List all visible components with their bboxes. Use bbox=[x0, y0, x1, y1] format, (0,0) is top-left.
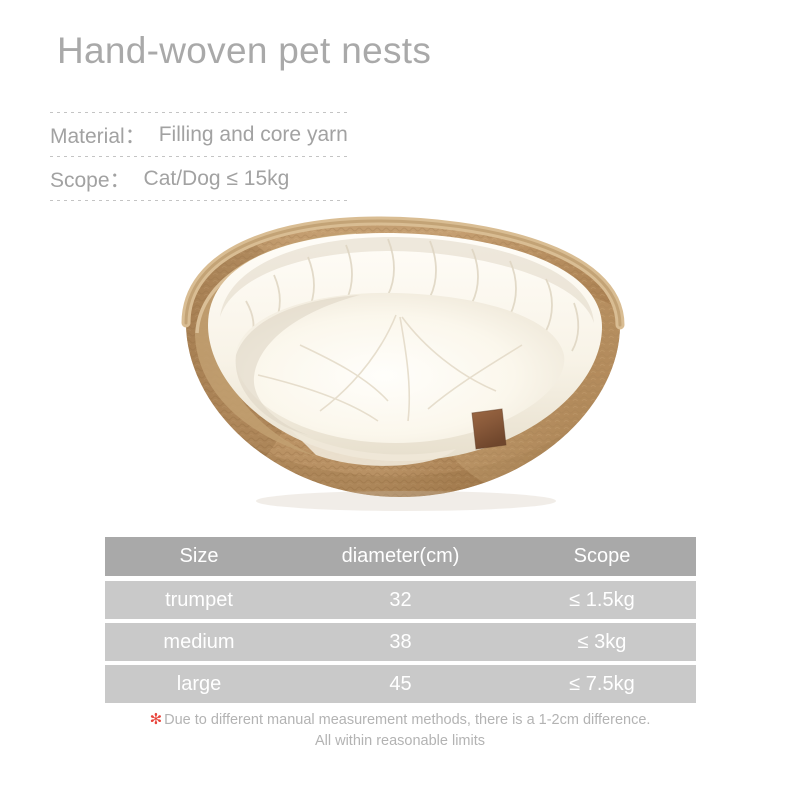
table-header-diameter: diameter(cm) bbox=[293, 545, 508, 568]
product-image bbox=[150, 205, 660, 525]
size-table: Size diameter(cm) Scope trumpet 32 ≤ 1.5… bbox=[105, 537, 696, 707]
spec-value-scope: Cat/Dog ≤ 15kg bbox=[144, 167, 290, 191]
spec-row-material: Material： Filling and core yarn bbox=[50, 113, 350, 156]
cell-scope: ≤ 7.5kg bbox=[508, 673, 696, 696]
spec-label-material: Material： bbox=[50, 120, 146, 150]
cell-diameter: 32 bbox=[293, 589, 508, 612]
table-header-size: Size bbox=[105, 545, 293, 568]
footnote-line-2: All within reasonable limits bbox=[0, 731, 800, 752]
spec-value-material: Filling and core yarn bbox=[159, 123, 348, 147]
cell-size: large bbox=[105, 673, 293, 696]
cell-scope: ≤ 3kg bbox=[508, 631, 696, 654]
ground-shadow bbox=[256, 491, 556, 511]
leather-tag bbox=[472, 409, 506, 449]
cell-size: trumpet bbox=[105, 589, 293, 612]
footnote-line-1: ✻Due to different manual measurement met… bbox=[0, 709, 800, 731]
measurement-footnote: ✻Due to different manual measurement met… bbox=[0, 709, 800, 752]
table-header-row: Size diameter(cm) Scope bbox=[105, 537, 696, 576]
asterisk-icon: ✻ bbox=[150, 711, 163, 728]
page-title: Hand-woven pet nests bbox=[57, 30, 431, 72]
table-row: large 45 ≤ 7.5kg bbox=[105, 665, 696, 703]
cell-size: medium bbox=[105, 631, 293, 654]
cell-scope: ≤ 1.5kg bbox=[508, 589, 696, 612]
spec-label-scope: Scope： bbox=[50, 164, 131, 194]
footnote-text-1: Due to different manual measurement meth… bbox=[164, 712, 650, 728]
table-row: trumpet 32 ≤ 1.5kg bbox=[105, 581, 696, 619]
table-row: medium 38 ≤ 3kg bbox=[105, 623, 696, 661]
spec-divider-bottom bbox=[50, 200, 350, 201]
specification-list: Material： Filling and core yarn Scope： C… bbox=[50, 112, 350, 201]
cell-diameter: 45 bbox=[293, 673, 508, 696]
cell-diameter: 38 bbox=[293, 631, 508, 654]
table-header-scope: Scope bbox=[508, 545, 696, 568]
spec-row-scope: Scope： Cat/Dog ≤ 15kg bbox=[50, 157, 350, 200]
